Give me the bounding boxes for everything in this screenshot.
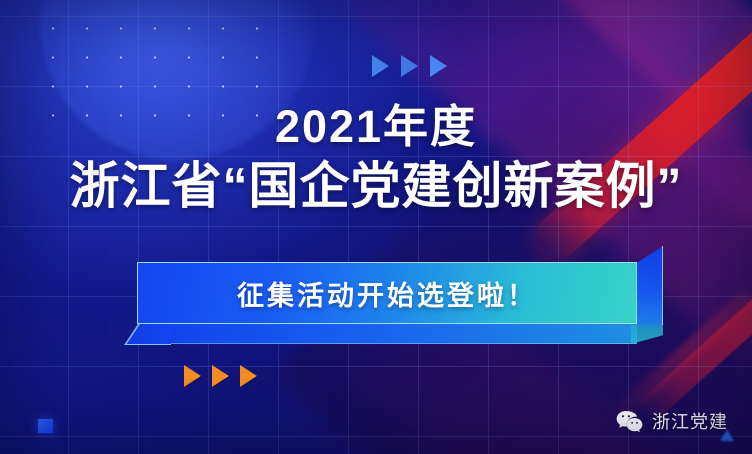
- arrow-group-top: [372, 55, 447, 77]
- cursor-pointer-icon: [720, 430, 734, 441]
- triangle-arrow-icon: [430, 55, 447, 77]
- arrow-group-bottom: [184, 365, 257, 387]
- ribbon-body: 征集活动开始选登啦！: [137, 262, 637, 324]
- triangle-arrow-icon: [212, 365, 229, 387]
- triangle-arrow-icon: [372, 55, 389, 77]
- wechat-account-name: 浙江党建: [652, 408, 728, 434]
- triangle-arrow-icon: [401, 55, 418, 77]
- headline-year: 2021年度: [0, 104, 752, 149]
- ribbon-text: 征集活动开始选登啦！: [237, 274, 537, 313]
- wechat-credit: 浙江党建: [616, 408, 728, 434]
- poster-canvas: 2021年度 浙江省“国企党建创新案例” 征集活动开始选登啦！ 浙江党建: [0, 0, 752, 454]
- triangle-arrow-icon: [184, 365, 201, 387]
- ribbon-banner: 征集活动开始选登啦！: [137, 262, 637, 324]
- headline-title: 浙江省“国企党建创新案例”: [0, 161, 752, 211]
- triangle-arrow-icon: [240, 365, 257, 387]
- blue-square-decoration: [38, 419, 53, 433]
- wechat-icon: [616, 410, 643, 433]
- headline-block: 2021年度 浙江省“国企党建创新案例”: [0, 104, 752, 211]
- ribbon-fold-under: [159, 323, 637, 344]
